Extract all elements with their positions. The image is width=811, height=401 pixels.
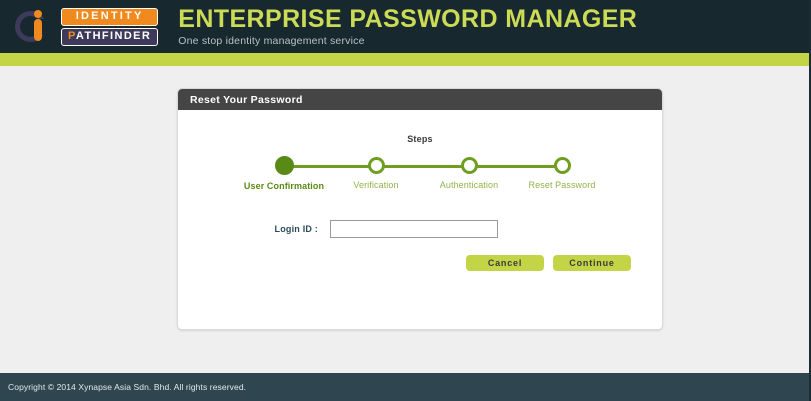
page-footer: Copyright © 2014 Xynapse Asia Sdn. Bhd. … bbox=[0, 373, 811, 401]
copyright-text: Copyright © 2014 Xynapse Asia Sdn. Bhd. … bbox=[8, 382, 246, 392]
header-title-block: ENTERPRISE PASSWORD MANAGER One stop ide… bbox=[178, 5, 637, 48]
login-id-input[interactable] bbox=[330, 220, 498, 238]
logo-wordmark: IDENTITY PATHFINDER bbox=[61, 8, 158, 46]
continue-button[interactable]: Continue bbox=[553, 255, 631, 271]
main-content: Reset Your Password Steps User Confirmat… bbox=[0, 66, 811, 373]
logo-badge-identity: IDENTITY bbox=[61, 8, 158, 26]
step-dot-icon bbox=[554, 157, 571, 174]
page-subtitle: One stop identity management service bbox=[178, 34, 637, 48]
application-window: IDENTITY PATHFINDER ENTERPRISE PASSWORD … bbox=[0, 0, 811, 401]
step-dot-icon bbox=[368, 157, 385, 174]
steps-caption: Steps bbox=[178, 134, 662, 144]
login-id-row: Login ID : bbox=[178, 220, 662, 238]
step-dot-icon bbox=[461, 157, 478, 174]
panel-title: Reset Your Password bbox=[178, 89, 662, 110]
identity-pathfinder-logo-icon bbox=[14, 7, 58, 47]
step-dot-active-icon bbox=[275, 156, 294, 175]
page-title: ENTERPRISE PASSWORD MANAGER bbox=[178, 5, 637, 33]
panel-body: Steps User Confirmation Verification Aut… bbox=[178, 110, 662, 329]
logo-badge-pathfinder-rest: ATHFINDER bbox=[76, 30, 151, 42]
steps-progress-indicator: User Confirmation Verification Authentic… bbox=[258, 152, 588, 198]
logo-i-stem bbox=[34, 19, 42, 41]
cancel-button[interactable]: Cancel bbox=[466, 255, 544, 271]
page-header: IDENTITY PATHFINDER ENTERPRISE PASSWORD … bbox=[0, 0, 811, 53]
step-label: Reset Password bbox=[502, 180, 622, 190]
brand-logo[interactable]: IDENTITY PATHFINDER bbox=[14, 7, 158, 47]
login-id-label: Login ID : bbox=[178, 224, 330, 234]
logo-badge-pathfinder: PATHFINDER bbox=[61, 28, 158, 46]
logo-badge-pathfinder-initial: P bbox=[68, 30, 76, 42]
reset-password-panel: Reset Your Password Steps User Confirmat… bbox=[177, 88, 663, 330]
header-accent-band bbox=[0, 53, 811, 66]
panel-action-buttons: Cancel Continue bbox=[466, 255, 631, 271]
logo-i-dot bbox=[34, 10, 42, 18]
step-reset-password[interactable]: Reset Password bbox=[502, 152, 622, 190]
